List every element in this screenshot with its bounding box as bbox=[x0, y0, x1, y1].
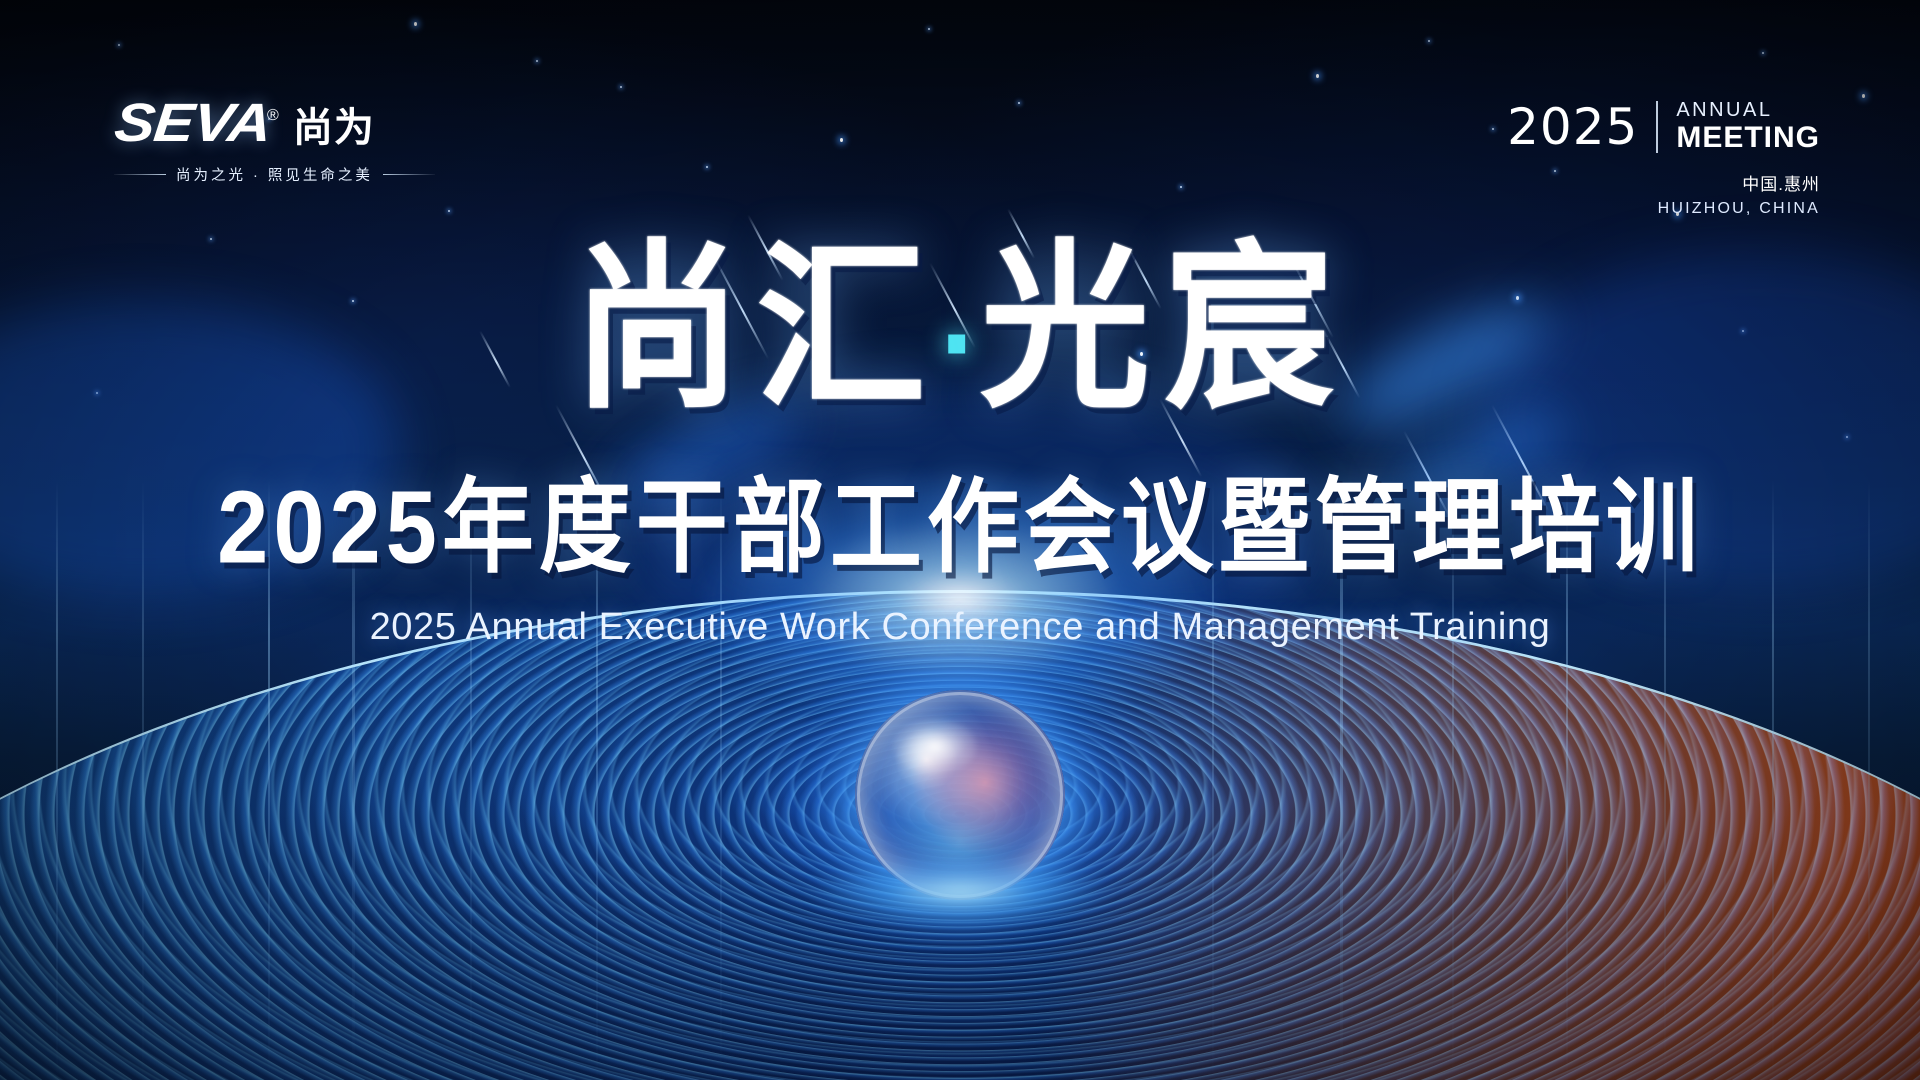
event-meta-top: 2025 ANNUAL MEETING bbox=[1507, 100, 1820, 154]
orb-highlight bbox=[893, 719, 977, 774]
event-type: ANNUAL MEETING bbox=[1676, 100, 1820, 154]
brand-logo: SEVA ® 尚为 尚为之光 · 照见生命之美 bbox=[112, 96, 452, 185]
brand-wordmark: SEVA bbox=[112, 96, 273, 150]
main-title-separator: · bbox=[940, 272, 980, 414]
event-city-cn: 中国.惠州 bbox=[1507, 170, 1820, 195]
main-title-right: 光宸 bbox=[980, 228, 1348, 429]
orb-base-glow bbox=[810, 857, 1110, 927]
tagline-text: 尚为之光 · 照见生命之美 bbox=[176, 164, 373, 185]
conference-banner: SEVA ® 尚为 尚为之光 · 照见生命之美 2025 ANNUAL MEET… bbox=[0, 0, 1920, 1080]
tagline-rule-right bbox=[383, 174, 435, 175]
brand-name-cn: 尚为 bbox=[293, 108, 375, 148]
brand-tagline: 尚为之光 · 照见生命之美 bbox=[114, 164, 452, 185]
subtitle-en: 2025 Annual Executive Work Conference an… bbox=[0, 605, 1920, 651]
event-city-en: HUIZHOU, CHINA bbox=[1507, 200, 1820, 218]
main-title-left: 尚汇 bbox=[572, 228, 940, 429]
glass-orb bbox=[855, 690, 1065, 900]
main-title: 尚汇·光宸 bbox=[0, 239, 1920, 419]
meta-divider bbox=[1656, 101, 1658, 153]
event-annual-label: ANNUAL bbox=[1676, 99, 1772, 121]
event-meta: 2025 ANNUAL MEETING 中国.惠州 HUIZHOU, CHINA bbox=[1507, 100, 1820, 218]
tagline-rule-left bbox=[114, 174, 166, 175]
event-meeting-label: MEETING bbox=[1676, 121, 1820, 154]
event-year: 2025 bbox=[1507, 102, 1638, 152]
subtitle-cn: 2025年度干部工作会议暨管理培训 bbox=[0, 476, 1920, 579]
brand-logo-row: SEVA ® 尚为 bbox=[112, 96, 452, 150]
